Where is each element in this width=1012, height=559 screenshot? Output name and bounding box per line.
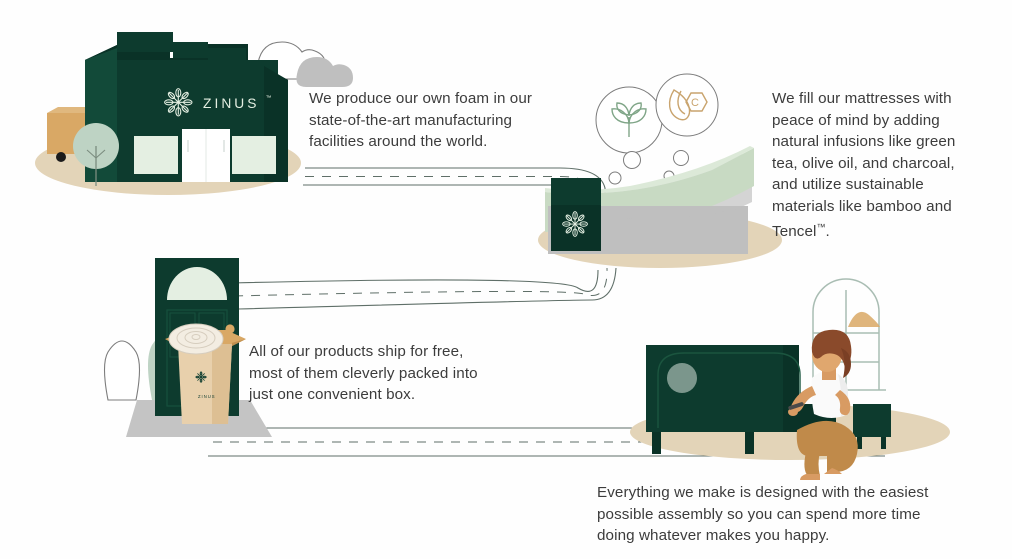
- caption-materials-text: We fill our mattresses with peace of min…: [772, 90, 955, 240]
- zinus-wordmark: ZINUS: [203, 96, 260, 111]
- scene-front-door: ZINUS: [105, 258, 273, 437]
- infographic-canvas: ZINUS ™: [0, 0, 1012, 559]
- caption-assembly: Everything we make is designed with the …: [597, 482, 949, 547]
- scene-factory: ZINUS ™: [35, 32, 353, 195]
- zinus-trademark: ™: [266, 95, 272, 101]
- caption-materials: We fill our mattresses with peace of min…: [772, 88, 977, 243]
- scene-mattress: C: [538, 74, 782, 268]
- bush-outline-icon: [105, 341, 140, 400]
- infographic-illustration: ZINUS ™: [0, 0, 1012, 559]
- caption-materials-period: .: [826, 223, 830, 240]
- path-mattress-to-door: [232, 268, 616, 309]
- zinus-mark-icon: [165, 89, 192, 116]
- box-zinus-wordmark: ZINUS: [198, 394, 216, 399]
- caption-manufacturing: We produce our own foam in our state-of-…: [309, 88, 571, 153]
- scene-bedroom: [630, 279, 950, 480]
- factory-building-icon: [85, 32, 310, 182]
- cloud-solid-icon: [296, 57, 353, 87]
- factory-window-left: [134, 136, 178, 174]
- mattress-zinus-tag: [551, 178, 601, 251]
- caption-shipping: All of our products ship for free, most …: [249, 341, 499, 406]
- status-badge: [667, 363, 697, 393]
- svg-text:C: C: [691, 97, 699, 109]
- zinus-mark-icon: [563, 212, 588, 237]
- factory-window-right: [232, 136, 276, 174]
- window-hill-view: [848, 312, 880, 327]
- trademark-symbol: ™: [817, 222, 826, 232]
